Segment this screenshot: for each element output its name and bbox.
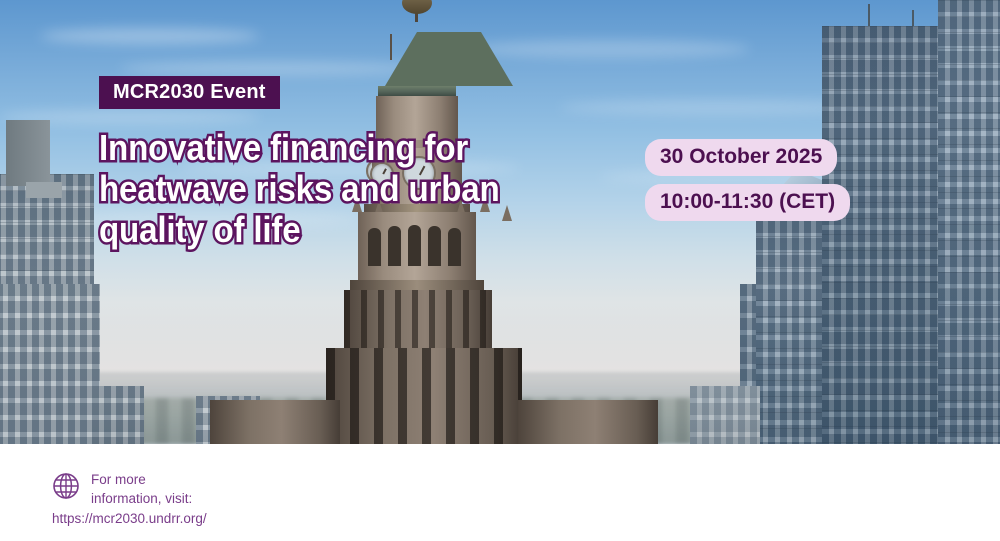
event-time-badge: 10:00-11:30 (CET): [645, 184, 850, 221]
info-line-1: For more: [91, 472, 146, 487]
building-left-rooftop-block: [6, 120, 50, 186]
cloud: [40, 28, 260, 44]
window-grid: [0, 284, 100, 444]
palace-wing-right: [518, 400, 658, 444]
tower-roof-patina: [385, 32, 513, 86]
building-right-angular: [756, 204, 830, 444]
floor-lines: [938, 0, 1000, 444]
window-grid: [92, 386, 144, 444]
floor-lines: [822, 26, 942, 444]
base-portico-grid: [326, 348, 522, 444]
spire-orb: [402, 0, 432, 14]
headline-line-1: Innovative financing for: [99, 127, 531, 168]
building-right-roof-antenna-2: [912, 10, 914, 26]
building-right-roof-antenna: [868, 4, 870, 26]
more-information-block: For more information, visit:: [52, 470, 192, 508]
tower-cornice-3: [350, 280, 484, 290]
window-grid: [690, 386, 760, 444]
event-headline: Innovative financing for heatwave risks …: [99, 127, 531, 250]
more-information-text: For more information, visit:: [91, 470, 192, 508]
base-window-grid: [344, 290, 492, 348]
event-eyebrow-badge: MCR2030 Event: [99, 76, 280, 109]
building-right-main-tower: [822, 26, 942, 444]
tower-roof-base: [378, 86, 456, 96]
headline-line-2: heatwave risks and urban: [99, 168, 531, 209]
event-datetime-group: 30 October 2025 10:00-11:30 (CET): [645, 139, 850, 221]
footer-bar: For more information, visit: https://mcr…: [0, 444, 1000, 541]
website-url[interactable]: https://mcr2030.undrr.org/: [52, 510, 207, 527]
floor-lines: [756, 204, 830, 444]
building-left-front: [0, 284, 100, 444]
event-banner: MCR2030 Event Innovative financing for h…: [0, 0, 1000, 541]
building-far-right: [938, 0, 1000, 444]
globe-icon: [52, 472, 80, 505]
building-left-low: [92, 386, 144, 444]
palace-wing-left: [210, 400, 340, 444]
building-left-roof-unit: [26, 182, 62, 198]
building-right-low: [690, 386, 760, 444]
event-date-badge: 30 October 2025: [645, 139, 837, 176]
info-line-2: information, visit:: [91, 491, 192, 506]
headline-line-3: quality of life: [99, 209, 531, 250]
